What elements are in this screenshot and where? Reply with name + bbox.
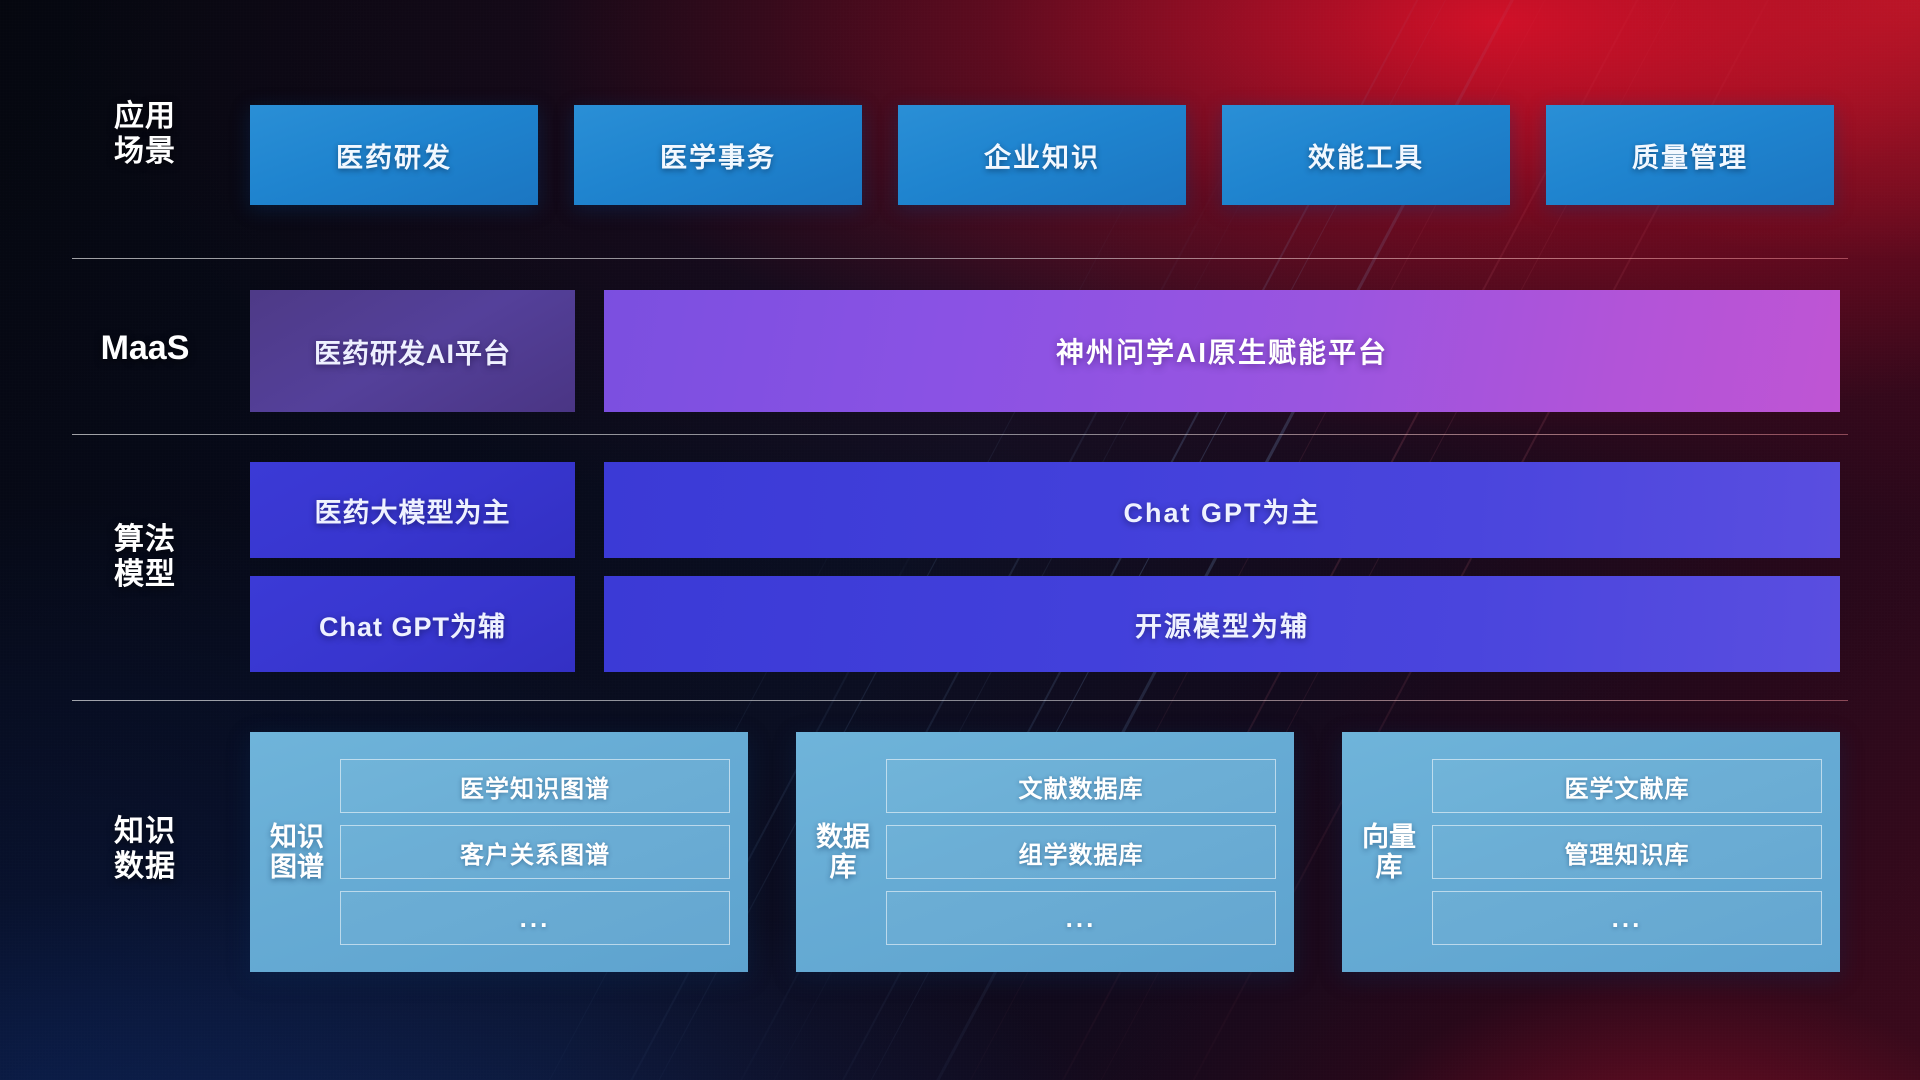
tier-label-line: 应用 xyxy=(80,99,210,134)
algo-row0-right[interactable]: Chat GPT为主 xyxy=(604,462,1840,558)
divider-1 xyxy=(72,258,1848,259)
knowledge-item[interactable]: 医学文献库 xyxy=(1432,759,1822,813)
algo-row0-left[interactable]: 医药大模型为主 xyxy=(250,462,575,558)
knowledge-item[interactable]: 医学知识图谱 xyxy=(340,759,730,813)
tier-maas: MaaS 医药研发AI平台 神州问学AI原生赋能平台 xyxy=(0,290,1920,412)
app-box-4[interactable]: 质量管理 xyxy=(1546,105,1834,205)
knowledge-item[interactable]: ... xyxy=(340,891,730,945)
app-box-1[interactable]: 医学事务 xyxy=(574,105,862,205)
knowledge-group-0[interactable]: 知识图谱 医学知识图谱 客户关系图谱 ... xyxy=(250,732,748,972)
knowledge-item[interactable]: 文献数据库 xyxy=(886,759,1276,813)
divider-3 xyxy=(72,700,1848,701)
knowledge-item[interactable]: ... xyxy=(1432,891,1822,945)
knowledge-item[interactable]: 客户关系图谱 xyxy=(340,825,730,879)
knowledge-item[interactable]: 组学数据库 xyxy=(886,825,1276,879)
app-box-2[interactable]: 企业知识 xyxy=(898,105,1186,205)
divider-2 xyxy=(72,434,1848,435)
algo-row1-right[interactable]: 开源模型为辅 xyxy=(604,576,1840,672)
tier-label-line: 场景 xyxy=(80,134,210,169)
tier-algorithm-model: 算法 模型 医药大模型为主 Chat GPT为主 Chat GPT为辅 开源模型… xyxy=(0,462,1920,672)
knowledge-item[interactable]: ... xyxy=(886,891,1276,945)
knowledge-group-0-items: 医学知识图谱 客户关系图谱 ... xyxy=(326,759,730,945)
tier-label-line: 算法 xyxy=(80,522,210,557)
knowledge-group-1-title: 数据库 xyxy=(814,822,872,882)
tier-label-line: 模型 xyxy=(80,557,210,592)
tier-knowledge-data: 知识 数据 知识图谱 医学知识图谱 客户关系图谱 ... 数据库 文献数据库 组… xyxy=(0,732,1920,972)
knowledge-group-2-title: 向量库 xyxy=(1360,822,1418,882)
tier-label-knowledge: 知识 数据 xyxy=(80,814,210,885)
tier-label-algorithm: 算法 模型 xyxy=(80,522,210,593)
knowledge-group-1-items: 文献数据库 组学数据库 ... xyxy=(872,759,1276,945)
app-box-0[interactable]: 医药研发 xyxy=(250,105,538,205)
tier-label-line: 知识 xyxy=(80,814,210,849)
maas-right-box[interactable]: 神州问学AI原生赋能平台 xyxy=(604,290,1840,412)
architecture-diagram: 应用 场景 医药研发 医学事务 企业知识 效能工具 质量管理 MaaS 医药研发… xyxy=(0,0,1920,1080)
tier-label-application: 应用 场景 xyxy=(80,99,210,170)
maas-left-box[interactable]: 医药研发AI平台 xyxy=(250,290,575,412)
tier-label-line: 数据 xyxy=(80,849,210,884)
knowledge-group-1[interactable]: 数据库 文献数据库 组学数据库 ... xyxy=(796,732,1294,972)
knowledge-group-0-title: 知识图谱 xyxy=(268,822,326,882)
knowledge-group-2[interactable]: 向量库 医学文献库 管理知识库 ... xyxy=(1342,732,1840,972)
tier-label-maas: MaaS xyxy=(80,328,210,368)
algo-row1-left[interactable]: Chat GPT为辅 xyxy=(250,576,575,672)
knowledge-group-2-items: 医学文献库 管理知识库 ... xyxy=(1418,759,1822,945)
knowledge-item[interactable]: 管理知识库 xyxy=(1432,825,1822,879)
app-box-3[interactable]: 效能工具 xyxy=(1222,105,1510,205)
tier-application-scenarios: 应用 场景 医药研发 医学事务 企业知识 效能工具 质量管理 xyxy=(0,105,1920,205)
